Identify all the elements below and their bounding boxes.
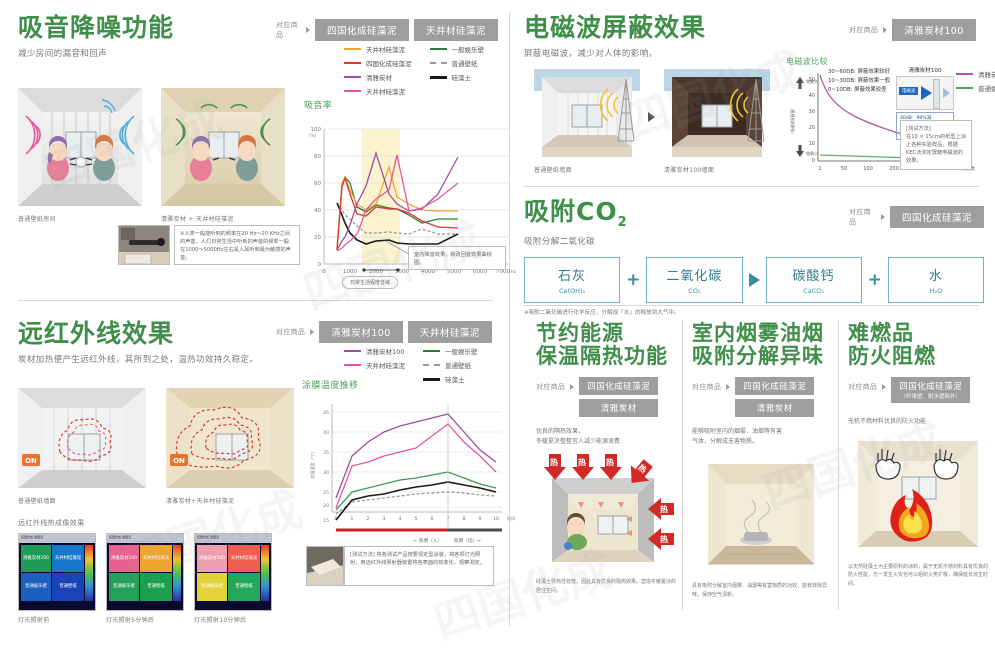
thermal-block: 远红外线热成像效果 四国化成 硅藻泥 清雅炭材100 天井材硅藻泥 普通娱乐壁 … — [18, 518, 280, 624]
thermal-quad-label: 清雅炭材100 — [197, 545, 227, 572]
svg-text:时间（分）: 时间（分） — [507, 515, 516, 522]
section-energy: 节约能源 保温隔热功能 对应商品 四国化成硅藻泥 清雅炭材 优良的隔热效果， 冬… — [536, 322, 676, 595]
svg-text:1000: 1000 — [343, 269, 357, 275]
thermal-quad-label: 普通壁纸 — [52, 573, 84, 601]
legend-swatch — [956, 87, 973, 89]
arrow-right-icon — [943, 88, 950, 98]
thermal-caption: 灯光照射前 — [18, 615, 96, 624]
legend-swatch — [344, 364, 361, 366]
odor-tag-label: 对应商品 — [692, 382, 721, 392]
tag-product[interactable]: 清雅炭材 — [735, 399, 814, 417]
thermal-quad-label: 清雅炭材100 — [21, 545, 51, 572]
svg-text:0: 0 — [322, 269, 326, 275]
legend-label: 普通壁纸 — [452, 58, 478, 68]
svg-text:80: 80 — [314, 154, 321, 160]
infrared-chart-callout: [测试方法] 将各测试产品按要领定型涂装，将各项灯光照射，用远红外线照射器装置将… — [344, 546, 494, 586]
emi-room-right: 清雅炭材100墙面 — [664, 69, 770, 174]
fire-room-svg — [848, 435, 988, 553]
infrared-callout-photo — [306, 546, 344, 586]
legend-label: 天井材硅藻泥 — [366, 360, 405, 370]
legend-swatch — [956, 73, 973, 75]
tag-sub-label: （纤维壁、耐水壁除外） — [899, 392, 962, 400]
emi-db-note: 30~60DB: 屏蔽效果较好 — [828, 68, 890, 77]
sound-tag-label: 对应商品 — [276, 20, 301, 40]
svg-text:8: 8 — [463, 516, 466, 522]
tag-product[interactable]: 清雅炭材100 — [892, 19, 976, 41]
photo-measurement — [119, 226, 170, 265]
legend-item: 一般娱乐壁 — [430, 44, 485, 54]
chem-name: 石灰 — [529, 265, 615, 284]
thermal-quad-label: 天井材硅藻泥 — [140, 545, 172, 572]
emi-tags: 对应商品 清雅炭材100 — [849, 19, 976, 41]
fire-illustration — [848, 435, 988, 557]
emi-legend: 清雅炭材100 普通娱乐壁 — [956, 69, 995, 93]
chem-box: 二氧化碳 CO₂ — [646, 257, 742, 303]
room-illustration-treated — [161, 88, 285, 206]
co2-tag-label: 对应商品 — [849, 207, 876, 227]
svg-text:40: 40 — [323, 430, 329, 436]
legend-label: 四国化成硅藻泥 — [366, 58, 412, 68]
svg-text:0: 0 — [318, 262, 322, 268]
room-emi-plain — [534, 69, 640, 157]
arrow-right-icon — [310, 329, 314, 335]
heat-arrow: 热 — [600, 454, 622, 480]
thermal-item: 四国化成 硅藻泥 清雅炭材100 天井材硅藻泥 普通娱乐壁 普通壁纸 灯光照射5… — [106, 533, 184, 624]
svg-text:（电磁波屏蔽量）: （电磁波屏蔽量） — [790, 106, 795, 136]
thermal-quad-label: 天井材硅藻泥 — [228, 545, 260, 572]
legend-label: 清雅炭材100 — [978, 69, 995, 79]
legend-swatch — [344, 48, 361, 50]
energy-tags: 对应商品 四国化成硅藻泥 清雅炭材 — [536, 377, 676, 417]
sound-chart-svg: 1008060 40200 (%) 010002000 300040005000… — [302, 113, 516, 303]
svg-text:← 照明（入）: ← 照明（入） — [414, 538, 442, 544]
legend-swatch — [430, 76, 447, 79]
tag-main-label: 四国化成硅藻泥 — [899, 382, 962, 392]
heat-arrow-label: 热 — [660, 534, 668, 545]
energy-title-line2: 保温隔热功能 — [536, 345, 676, 368]
tag-product[interactable]: 四国化成硅藻泥 — [315, 19, 409, 41]
legend-swatch — [344, 350, 361, 352]
section-odor: 室内烟雾油烟 吸附分解异味 对应商品 四国化成硅藻泥 清雅炭材 能够吸附室内的烟… — [692, 322, 832, 599]
svg-text:(Hz): (Hz) — [509, 269, 516, 274]
chem-name: 水 — [893, 265, 979, 284]
svg-text:15: 15 — [323, 518, 329, 524]
svg-text:0: 0 — [812, 158, 815, 164]
thermal-quad-label: 清雅炭材100 — [109, 545, 139, 572]
divider-col-1 — [682, 320, 683, 610]
emi-arrow-between — [648, 112, 655, 122]
sound-legend: 天井材硅藻泥 一般娱乐壁 四国化成硅藻泥 普通壁纸 清雅炭材 硅藻土 天井材硅藻… — [344, 44, 484, 96]
sound-room-right: 清雅炭材 + 天井材硅藻泥 — [161, 88, 285, 223]
svg-text:1: 1 — [351, 516, 354, 522]
emi-room-right-caption: 清雅炭材100墙面 — [664, 165, 770, 174]
emi-room-left: 普通壁纸墙面 — [534, 69, 640, 174]
legend-item: 天井材硅藻泥 — [344, 360, 405, 370]
odor-title-line1: 室内烟雾油烟 — [692, 322, 832, 345]
legend-item: 清雅炭材100 — [344, 346, 405, 356]
svg-text:6: 6 — [431, 516, 434, 522]
emi-panel-note: [测试方法] 在10 × 15cm的纸型上涂上各种实验样品，根据KEC法测定屏蔽… — [900, 120, 972, 170]
svg-text:30: 30 — [809, 109, 815, 115]
odor-desc: 能够吸附室内的烟雾、油烟等有害 气体，分解成无害物质。 — [692, 427, 832, 446]
thermal-item: 四国化成 硅藻泥 清雅炭材100 天井材硅藻泥 普通娱乐壁 普通壁纸 灯光照射前 — [18, 533, 96, 624]
svg-text:9: 9 — [479, 516, 482, 522]
chem-box: 石灰 Ca(OH)₂ — [524, 257, 620, 303]
heat-arrow-label: 热 — [578, 457, 586, 468]
svg-text:10: 10 — [809, 141, 815, 147]
tag-product[interactable]: 四国化成硅藻泥 — [579, 377, 658, 395]
thermal-quad-label: 普通娱乐壁 — [21, 573, 51, 601]
co2-title-main: 吸附CO — [524, 197, 618, 226]
svg-text:效果大: 效果大 — [806, 78, 818, 84]
svg-text:10: 10 — [493, 516, 499, 522]
section-fire: 难燃品 防火阻燃 对应商品 四国化成硅藻泥 （纤维壁、耐水壁除外） 无机不燃材料… — [848, 322, 988, 588]
svg-text:60: 60 — [314, 181, 321, 187]
legend-swatch — [344, 62, 361, 64]
sound-chart-band-label: 日常生活程度音域 — [342, 276, 398, 289]
tag-product[interactable]: 清雅炭材100 — [319, 321, 403, 343]
svg-text:35: 35 — [323, 450, 329, 456]
infrared-tag-label: 对应商品 — [276, 327, 305, 337]
svg-text:20: 20 — [314, 235, 321, 241]
svg-text:4: 4 — [399, 516, 402, 522]
section-emi: 电磁波屏蔽效果 屏蔽电磁波，减少对人体的影响。 对应商品 清雅炭材100 — [524, 14, 984, 182]
svg-text:20: 20 — [323, 503, 329, 509]
energy-desc: 优良的隔热效果， 冬暖夏凉整整宜人减少能源浪费 — [536, 427, 676, 446]
chem-formula: CaCO₃ — [771, 287, 857, 295]
emi-db-note: 10~30DB: 屏蔽效果一般 — [828, 77, 890, 86]
infrared-chart: 涂膜温度推移 454035 30252015 涂膜温度（℃） 0123 4567 — [302, 378, 516, 550]
arrow-right-icon — [921, 86, 932, 100]
svg-text:照明（切）→: 照明（切）→ — [454, 537, 481, 544]
legend-item: 一般娱乐壁 — [423, 346, 478, 356]
chem-formula: H₂O — [893, 287, 979, 295]
fire-footer: 以天然硅藻土为主要原料的涂料，属于无机不燃材料具有优良的防火性能，万一发生火灾也… — [848, 563, 988, 589]
plus-icon: + — [626, 270, 640, 290]
arrow-right-icon — [882, 384, 886, 390]
emi-db-note: 0~10DB: 屏蔽效果较差 — [828, 86, 890, 95]
legend-item: 清雅炭材 — [344, 72, 412, 82]
odor-footer: 具有吸附分解室内烟雾、油烟等有害物质的功效，能有效除异味，保持空气清新。 — [692, 582, 832, 599]
on-badge-icon: ON — [170, 454, 188, 466]
thermal-quad-label: 普通壁纸 — [228, 573, 260, 601]
svg-text:ON: ON — [173, 457, 185, 465]
svg-text:30: 30 — [323, 470, 329, 476]
co2-tags: 对应商品 四国化成硅藻泥 — [849, 206, 984, 228]
svg-text:(%): (%) — [309, 133, 317, 138]
sound-chart-title: 吸音率 — [304, 98, 516, 111]
legend-label: 普通壁纸 — [445, 360, 471, 370]
chem-box: 碳酸钙 CaCO₃ — [766, 257, 862, 303]
legend-label: 清雅炭材100 — [366, 346, 404, 356]
svg-text:100: 100 — [863, 166, 873, 172]
legend-item: 清雅炭材100 — [956, 69, 995, 79]
tag-product[interactable]: 清雅炭材 — [579, 399, 658, 417]
thermal-quad-label: 天井材硅藻泥 — [52, 545, 84, 572]
on-badge-icon: ON — [22, 454, 40, 466]
chem-name: 二氧化碳 — [651, 265, 737, 284]
plus-icon: + — [868, 270, 882, 290]
arrow-right-icon — [306, 27, 310, 33]
legend-item: 硅藻土 — [430, 72, 485, 82]
tag-product[interactable]: 四国化成硅藻泥 — [890, 206, 984, 228]
room-infrared-treated: ON — [166, 388, 294, 488]
divider-right-2 — [524, 305, 979, 306]
infrared-room-left-caption: 普通壁纸墙面 — [18, 496, 146, 505]
heat-arrow-label: 热 — [660, 504, 668, 515]
legend-label: 一般娱乐壁 — [452, 44, 485, 54]
legend-label: 天井材硅藻泥 — [366, 86, 405, 96]
section-infrared: 远红外线效果 炭材加热便产生远红外线，其所到之处，温热功效持久稳定。 对应商品 … — [18, 320, 498, 630]
legend-item: 普通壁纸 — [430, 58, 485, 68]
svg-text:200: 200 — [889, 166, 899, 172]
thermal-quad-label: 普通娱乐壁 — [109, 573, 139, 601]
section-co2: 吸附CO2 吸附分解二氧化碳 对应商品 四国化成硅藻泥 石灰 Ca(OH)₂ +… — [524, 198, 984, 298]
infrared-room-left: ON 普通壁纸墙面 — [18, 388, 146, 505]
svg-text:ON: ON — [25, 457, 37, 465]
legend-label: 清雅炭材 — [366, 72, 392, 82]
legend-label: 普通娱乐壁 — [978, 83, 995, 93]
chem-formula: CO₂ — [651, 287, 737, 295]
sound-photo — [118, 225, 170, 265]
energy-footer: 硅藻土导热性较低，因此具有优良的隔热效果。营造冬暖夏凉的居住空间。 — [536, 578, 676, 595]
tag-product[interactable]: 四国化成硅藻泥 （纤维壁、耐水壁除外） — [891, 377, 970, 403]
co2-equation: 石灰 Ca(OH)₂ + 二氧化碳 CO₂ 碳酸钙 CaCO₃ + 水 H₂O — [524, 257, 984, 303]
odor-illustration — [692, 454, 832, 576]
sound-chart-callout: 室内降音效果，致改回音效果曲线图。 — [408, 246, 506, 270]
co2-subtitle: 吸附分解二氧化碳 — [524, 235, 984, 247]
svg-text:涂膜温度（℃）: 涂膜温度（℃） — [309, 449, 316, 479]
heat-arrow-label: 热 — [606, 457, 614, 468]
energy-tag-label: 对应商品 — [536, 382, 565, 392]
legend-label: 一般娱乐壁 — [445, 346, 478, 356]
svg-text:5: 5 — [415, 516, 418, 522]
legend-item: 天井材硅藻泥 — [344, 44, 412, 54]
arrow-right-icon — [881, 214, 885, 220]
legend-swatch — [423, 350, 440, 352]
svg-text:2: 2 — [367, 516, 370, 522]
legend-item: 天井材硅藻泥 — [344, 86, 412, 96]
divider-col-2 — [838, 320, 839, 610]
heat-arrow: 热 — [572, 454, 594, 480]
emi-panel-title: 清雅炭材100 — [896, 66, 954, 74]
thermal-title: 远红外线热成像效果 — [18, 518, 280, 528]
fire-title-line1: 难燃品 — [848, 322, 988, 345]
energy-illustration: 热 热 热 热 热 热 — [536, 454, 676, 572]
poster-page: 四国化成 四国化成 四国化成 四国化成 四国化成 四国化成 吸音降噪功能 减少房… — [0, 0, 995, 638]
svg-text:1: 1 — [818, 166, 821, 172]
svg-text:3: 3 — [383, 516, 386, 522]
co2-footnote: ※吸附二氧化碳进行化学反应，分解成「水」的释放到大气中。 — [524, 308, 984, 316]
legend-swatch — [423, 364, 440, 366]
infrared-chart-svg: 454035 30252015 涂膜温度（℃） 0123 4567 8910 时… — [302, 394, 516, 546]
chem-box: 水 H₂O — [888, 257, 984, 303]
heat-arrow: 热 — [544, 454, 566, 480]
arrow-right-icon — [883, 27, 887, 33]
heat-arrow: 热 — [648, 528, 674, 550]
legend-label: 硅藻土 — [452, 72, 472, 82]
legend-swatch — [344, 76, 361, 78]
svg-text:50: 50 — [841, 166, 847, 172]
thermal-caption: 灯光照射10分钟后 — [194, 615, 272, 624]
legend-swatch — [430, 62, 447, 64]
heat-arrow: 热 — [648, 498, 674, 520]
sound-room-left: 普通壁纸房间 — [18, 88, 142, 223]
emi-panel-wave-label: 电磁波 — [899, 87, 918, 95]
section-sound: 吸音降噪功能 减少房间的漏音和回声 对应商品 四国化成硅藻泥 天井材硅藻泥 天井… — [18, 14, 498, 294]
odor-title-line2: 吸附分解异味 — [692, 345, 832, 368]
tag-product[interactable]: 天井材硅藻泥 — [408, 321, 492, 343]
co2-title-sub: 2 — [618, 215, 628, 230]
arrow-right-icon — [749, 273, 760, 287]
emi-room-left-caption: 普通壁纸墙面 — [534, 165, 640, 174]
legend-swatch — [344, 90, 361, 92]
odor-tags: 对应商品 四国化成硅藻泥 清雅炭材 — [692, 377, 832, 417]
svg-text:45: 45 — [323, 410, 329, 416]
sound-photo-note: ※人类一般能听到的频率在20 Hz～20 KHz之间的声音，人们日常生活中听到的… — [174, 225, 300, 265]
thermal-item: 四国化成 硅藻泥 清雅炭材100 天井材硅藻泥 普通娱乐壁 普通壁纸 灯光照射1… — [194, 533, 272, 624]
sound-tags: 对应商品 四国化成硅藻泥 天井材硅藻泥 — [276, 19, 498, 41]
chem-formula: Ca(OH)₂ — [529, 287, 615, 295]
svg-text:40: 40 — [314, 208, 321, 214]
infrared-tags: 对应商品 清雅炭材100 天井材硅藻泥 — [276, 321, 492, 343]
arrow-right-icon — [570, 384, 574, 390]
fire-tags: 对应商品 四国化成硅藻泥 （纤维壁、耐水壁除外） — [848, 377, 988, 403]
infrared-room-right: ON 清雅炭材+天井材硅藻泥 — [166, 388, 294, 505]
infrared-chart-title: 涂膜温度推移 — [302, 378, 516, 391]
legend-swatch — [430, 48, 447, 50]
room-infrared-plain: ON — [18, 388, 146, 488]
sound-room-right-caption: 清雅炭材 + 天井材硅藻泥 — [161, 214, 285, 223]
fire-title-line2: 防火阻燃 — [848, 345, 988, 368]
svg-text:效果小: 效果小 — [806, 150, 818, 156]
svg-text:20: 20 — [809, 125, 815, 131]
sound-chart: 吸音率 1008060 40200 (% — [302, 98, 516, 307]
heat-arrow-label: 热 — [550, 457, 558, 468]
tag-product[interactable]: 四国化成硅藻泥 — [735, 377, 814, 395]
energy-title-line1: 节约能源 — [536, 322, 676, 345]
svg-text:40: 40 — [809, 93, 815, 99]
divider-right-1 — [524, 186, 979, 187]
tag-product[interactable]: 天井材硅藻泥 — [414, 19, 498, 41]
thermal-caption: 灯光照射5分钟后 — [106, 615, 184, 624]
room-emi-treated — [664, 69, 770, 157]
emi-tag-label: 对应商品 — [849, 25, 878, 35]
sound-room-left-caption: 普通壁纸房间 — [18, 214, 142, 223]
svg-text:25: 25 — [323, 490, 329, 496]
arrow-right-icon — [726, 384, 730, 390]
legend-item: 普通娱乐壁 — [956, 83, 995, 93]
legend-item: 普通壁纸 — [423, 360, 478, 370]
emi-db-notes: 30~60DB: 屏蔽效果较好 10~30DB: 屏蔽效果一般 0~10DB: … — [828, 68, 890, 95]
chem-name: 碳酸钙 — [771, 265, 857, 284]
infrared-room-right-caption: 清雅炭材+天井材硅藻泥 — [166, 496, 294, 505]
fire-tag-label: 对应商品 — [848, 382, 877, 392]
odor-room-svg — [692, 454, 832, 572]
thermal-quad-label: 普通娱乐壁 — [197, 573, 227, 601]
fire-desc: 无机不燃材料优良的防火功能 — [848, 417, 988, 427]
room-illustration-plain — [18, 88, 142, 206]
thermal-quad-label: 普通壁纸 — [140, 573, 172, 601]
band-label-text: 日常生活程度音域 — [350, 280, 390, 286]
legend-item: 四国化成硅藻泥 — [344, 58, 412, 68]
legend-label: 天井材硅藻泥 — [366, 44, 405, 54]
